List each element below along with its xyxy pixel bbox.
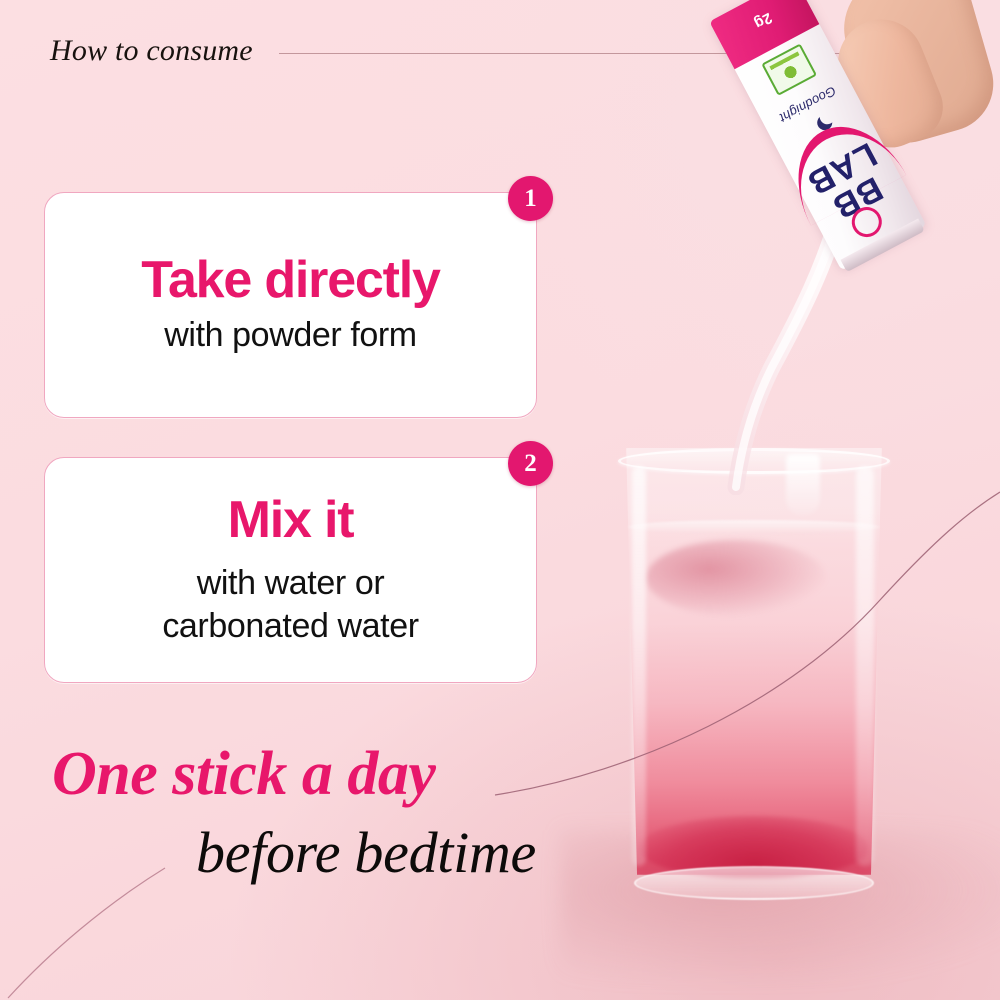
step-badge-2: 2 (508, 441, 553, 486)
certification-mark (769, 52, 809, 88)
step-card-take-directly[interactable]: Take directly with powder form (44, 192, 537, 418)
glass-base (634, 866, 874, 900)
infographic-canvas: How to consume 2g (0, 0, 1000, 1000)
step-title: Mix it (228, 493, 354, 548)
glass-highlight-left (632, 466, 646, 866)
step-title: Take directly (141, 253, 439, 308)
tagline-primary: One stick a day (0, 742, 620, 807)
step-subtitle: with water or carbonated water (162, 562, 418, 648)
glass-highlight-right (856, 466, 874, 866)
glass-of-pink-drink (618, 448, 890, 900)
step-card-mix-it[interactable]: Mix it with water or carbonated water (44, 457, 537, 683)
step-badge-1: 1 (508, 176, 553, 221)
step-subtitle: with powder form (164, 314, 416, 357)
page-title: How to consume (50, 34, 253, 68)
tagline-block: One stick a day before bedtime (0, 742, 620, 884)
liquid-surface (628, 520, 880, 534)
dispersing-powder (646, 540, 826, 616)
tagline-secondary: before bedtime (0, 823, 620, 884)
